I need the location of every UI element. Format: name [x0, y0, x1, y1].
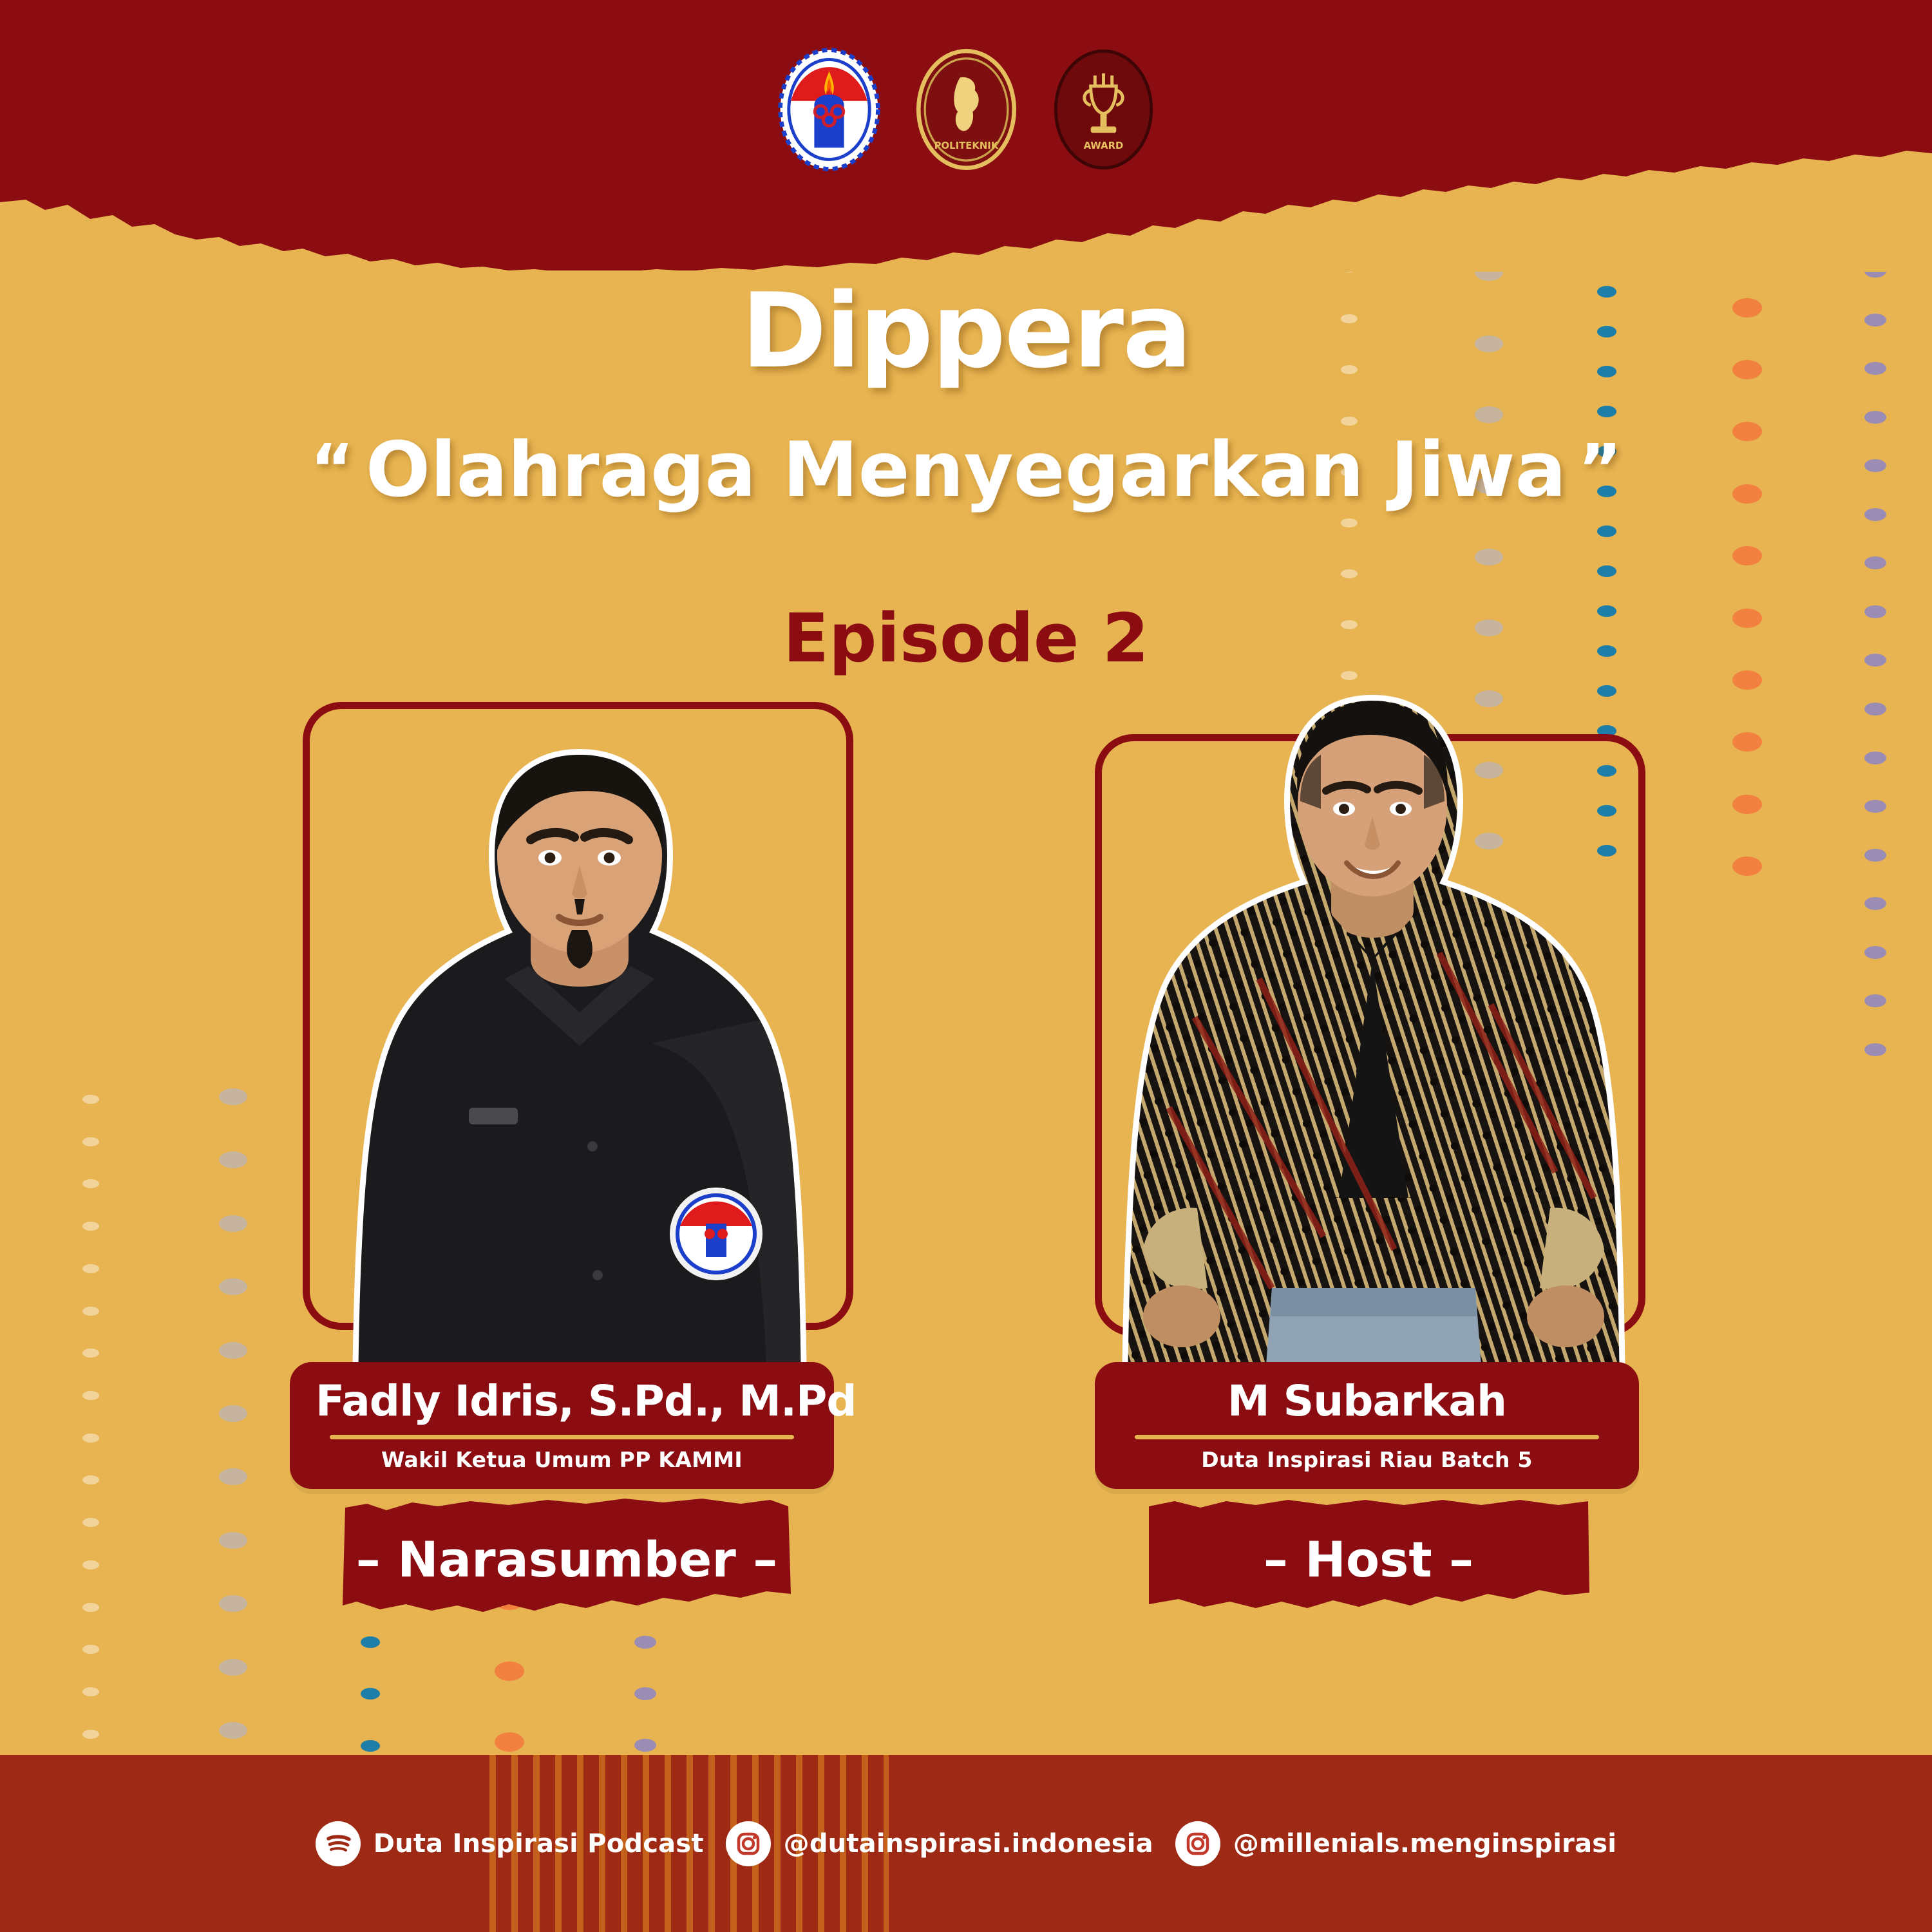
decorative-dot [82, 1179, 99, 1188]
quote-open: “ [299, 430, 366, 508]
decorative-dot [1864, 411, 1886, 424]
guest-nameplate-right: M Subarkah Duta Inspirasi Riau Batch 5 [1095, 1362, 1639, 1489]
decorative-dot [1732, 732, 1762, 752]
decorative-dot [1732, 795, 1762, 814]
guest-tag-label-right: – Host – [1146, 1497, 1591, 1588]
dot-column-cream-left [82, 1095, 99, 1739]
decorative-dot [82, 1095, 99, 1104]
guest-tag-label-left: – Narasumber – [341, 1497, 792, 1588]
guest-role-left: Wakil Ketua Umum PP KAMMI [316, 1447, 808, 1472]
decorative-dot [82, 1264, 99, 1273]
decorative-dot [1864, 946, 1886, 959]
spotify-icon [316, 1821, 361, 1866]
decorative-dot [82, 1475, 99, 1484]
decorative-dot [1341, 518, 1358, 527]
decorative-dot [1597, 526, 1616, 537]
guest-photo-left [335, 721, 824, 1391]
social-item-spotify[interactable]: Duta Inspirasi Podcast [316, 1821, 704, 1866]
nameplate-divider [330, 1435, 794, 1439]
svg-text:POLITEKNIK: POLITEKNIK [934, 140, 998, 151]
decorative-dot [1732, 857, 1762, 876]
decorative-dot [495, 1732, 524, 1752]
guest-tag-right: – Host – [1146, 1497, 1591, 1623]
guest-photo-right [1117, 683, 1626, 1391]
decorative-dot [82, 1391, 99, 1400]
decorative-dot [82, 1137, 99, 1146]
decorative-dot [361, 1636, 380, 1648]
decorative-dot [219, 1151, 247, 1168]
guest-name-left: Fadly Idris, S.Pd., M.Pd [316, 1376, 808, 1426]
awards-gold-logo: AWARD [1050, 45, 1157, 174]
instagram-icon [726, 1821, 771, 1866]
subtitle-text: Olahraga Menyegarkan Jiwa [366, 425, 1566, 514]
guest-tag-left: – Narasumber – [341, 1497, 792, 1623]
quote-close: ” [1566, 430, 1633, 508]
decorative-dot [634, 1739, 656, 1752]
decorative-dot [495, 1662, 524, 1681]
decorative-dot [1597, 406, 1616, 417]
decorative-dot [1341, 569, 1358, 578]
social-item-instagram-2[interactable]: @millenials.menginspirasi [1175, 1821, 1616, 1866]
podcast-poster: POLITEKNIK AWARD Dippera “Olahraga Menye… [0, 0, 1932, 1932]
decorative-dot [82, 1560, 99, 1569]
decorative-dot [219, 1088, 247, 1105]
decorative-dot [361, 1688, 380, 1700]
social-item-instagram-1[interactable]: @dutainspirasi.indonesia [726, 1821, 1153, 1866]
page-title: Dippera [0, 270, 1932, 391]
decorative-dot [219, 1595, 247, 1612]
footer-bar: Duta Inspirasi Podcast @dutainspirasi.in… [0, 1755, 1932, 1932]
decorative-dot [82, 1645, 99, 1654]
subtitle: “Olahraga Menyegarkan Jiwa” [0, 425, 1932, 514]
decorative-dot [219, 1215, 247, 1232]
decorative-dot [82, 1307, 99, 1316]
episode-label: Episode 2 [0, 599, 1932, 677]
decorative-dot [219, 1278, 247, 1295]
decorative-dot [1864, 703, 1886, 715]
decorative-dot [1475, 549, 1503, 565]
social-links: Duta Inspirasi Podcast @dutainspirasi.in… [0, 1755, 1932, 1932]
decorative-dot [1864, 800, 1886, 813]
dot-column-taupe-left [219, 1088, 247, 1739]
social-label-spotify: Duta Inspirasi Podcast [374, 1829, 704, 1859]
decorative-dot [1341, 417, 1358, 426]
decorative-dot [219, 1468, 247, 1485]
decorative-dot [82, 1518, 99, 1527]
decorative-dot [361, 1740, 380, 1752]
guest-role-right: Duta Inspirasi Riau Batch 5 [1121, 1447, 1613, 1472]
decorative-dot [82, 1434, 99, 1443]
nameplate-divider [1135, 1435, 1599, 1439]
decorative-dot [1864, 849, 1886, 862]
decorative-dot [1597, 565, 1616, 577]
decorative-dot [634, 1687, 656, 1700]
decorative-dot [82, 1349, 99, 1358]
decorative-dot [219, 1405, 247, 1422]
guest-name-right: M Subarkah [1121, 1376, 1613, 1426]
decorative-dot [1475, 406, 1503, 423]
decorative-dot [1864, 1043, 1886, 1056]
decorative-dot [1864, 752, 1886, 764]
decorative-dot [219, 1659, 247, 1676]
decorative-dot [1864, 556, 1886, 569]
politeknik-gold-logo: POLITEKNIK [913, 45, 1019, 174]
instagram-icon [1175, 1821, 1220, 1866]
decorative-dot [1864, 994, 1886, 1007]
decorative-dot [1864, 897, 1886, 910]
decorative-dot [1732, 546, 1762, 565]
decorative-dot [82, 1603, 99, 1612]
decorative-dot [82, 1222, 99, 1231]
social-label-instagram-1: @dutainspirasi.indonesia [784, 1829, 1153, 1859]
kammi-logo [776, 45, 882, 174]
guest-nameplate-left: Fadly Idris, S.Pd., M.Pd Wakil Ketua Umu… [290, 1362, 834, 1489]
logo-row: POLITEKNIK AWARD [0, 39, 1932, 180]
decorative-dot [219, 1532, 247, 1549]
decorative-dot [219, 1722, 247, 1739]
social-label-instagram-2: @millenials.menginspirasi [1233, 1829, 1616, 1859]
decorative-dot [219, 1342, 247, 1359]
decorative-dot [634, 1636, 656, 1649]
decorative-dot [82, 1687, 99, 1696]
svg-text:AWARD: AWARD [1083, 140, 1123, 151]
decorative-dot [82, 1730, 99, 1739]
